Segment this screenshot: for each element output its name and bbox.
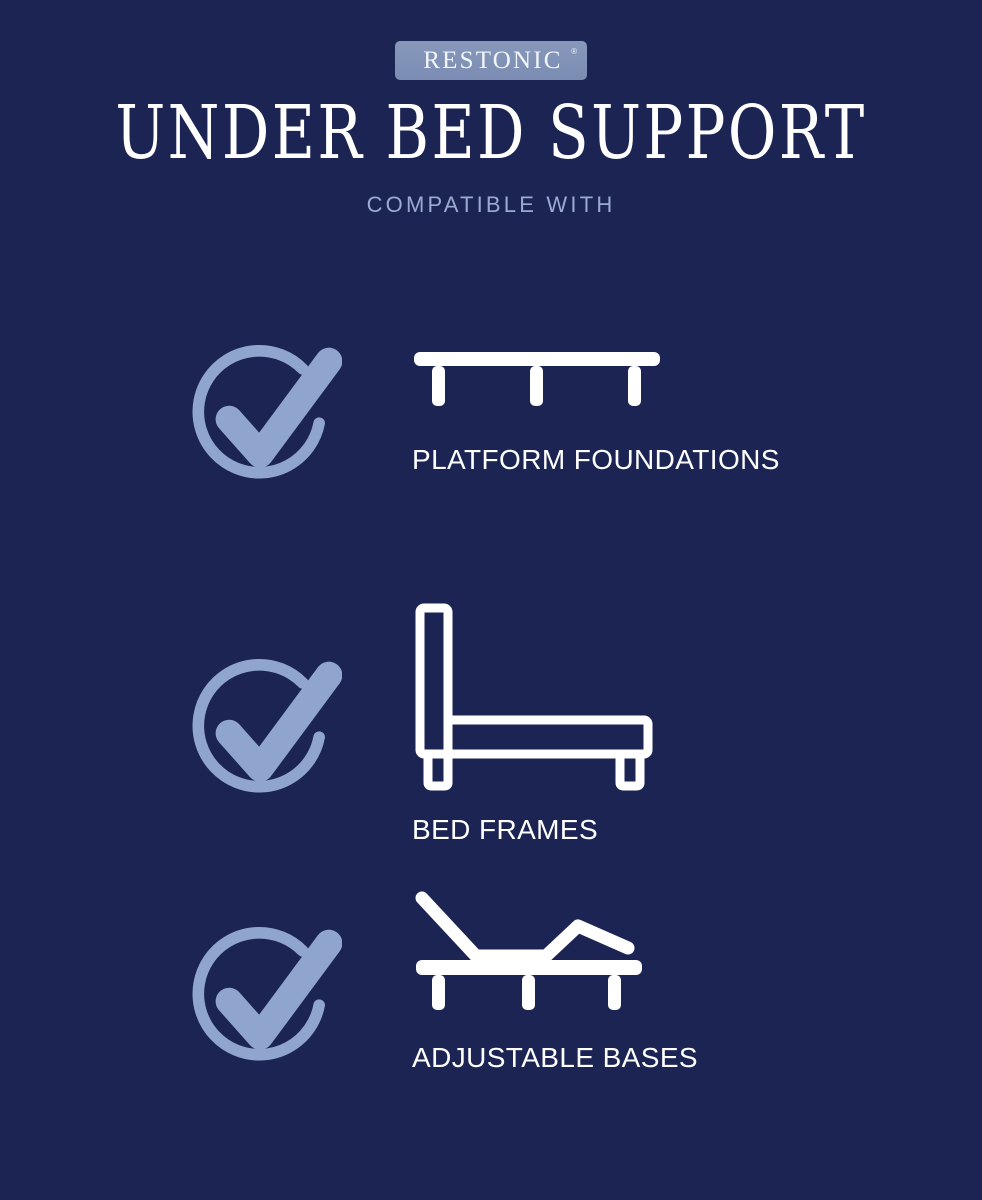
list-item-label: PLATFORM FOUNDATIONS xyxy=(412,444,832,476)
list-item-label: ADJUSTABLE BASES xyxy=(412,1042,832,1074)
page-title: UNDER BED SUPPORT xyxy=(98,96,884,170)
page-subtitle: COMPATIBLE WITH xyxy=(0,192,982,218)
list-item: ADJUSTABLE BASES xyxy=(0,890,982,1098)
check-circle-icon xyxy=(186,338,342,488)
restonic-logo-text: RESTONIC xyxy=(423,41,562,80)
check-circle-icon xyxy=(186,652,342,802)
list-item-content: BED FRAMES xyxy=(412,602,832,846)
list-item-content: PLATFORM FOUNDATIONS xyxy=(412,318,832,476)
restonic-logo-badge: RESTONIC ® xyxy=(395,41,587,80)
bed-frame-icon xyxy=(412,602,662,792)
compatibility-list: PLATFORM FOUNDATIONS xyxy=(0,318,982,1174)
trademark-icon: ® xyxy=(571,48,577,56)
header: RESTONIC ® UNDER BED SUPPORT COMPATIBLE … xyxy=(0,0,982,218)
platform-foundation-icon xyxy=(412,348,662,410)
list-item-content: ADJUSTABLE BASES xyxy=(412,890,832,1074)
list-item-label: BED FRAMES xyxy=(412,814,832,846)
list-item: PLATFORM FOUNDATIONS xyxy=(0,318,982,526)
list-item: BED FRAMES xyxy=(0,602,982,862)
adjustable-base-icon xyxy=(412,890,662,1012)
check-circle-icon xyxy=(186,920,342,1070)
